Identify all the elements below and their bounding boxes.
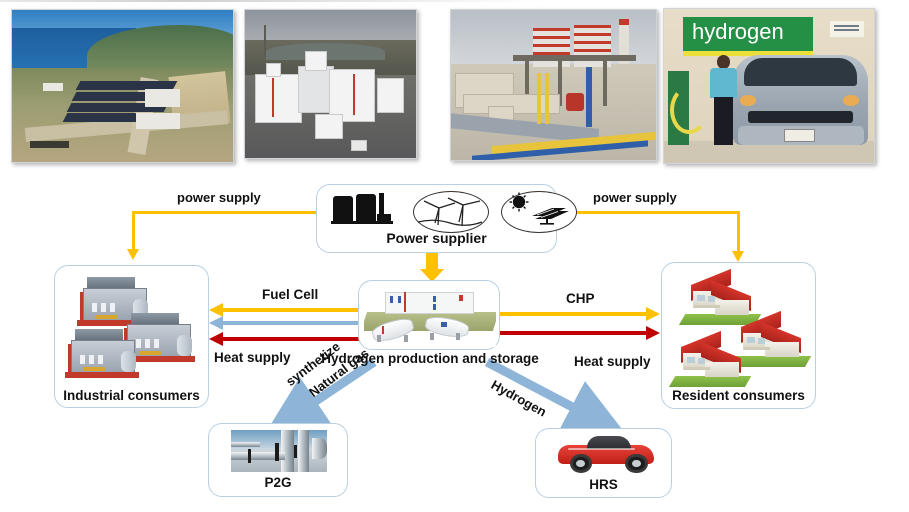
power-supply-right-line-h [556, 211, 740, 214]
heat-supply-left-arrowhead [209, 332, 223, 346]
power-supply-left-line-v [132, 211, 135, 251]
node-power-supplier-label: Power supplier [317, 230, 556, 246]
house-icon [672, 335, 748, 387]
power-plant-photo [450, 9, 657, 161]
node-resident-consumers-label: Resident consumers [662, 388, 815, 403]
thermal-plant-icon [331, 194, 395, 224]
power-supply-left-arrowhead [127, 249, 139, 260]
fuel-cell-arrowhead [209, 303, 223, 317]
node-hydrogen-production[interactable] [358, 280, 500, 350]
chp-label: CHP [566, 291, 595, 306]
hydrogen-plant-icon [364, 285, 496, 347]
solar-farm-photo [11, 9, 234, 163]
node-hrs-label: HRS [536, 477, 671, 492]
solar-panel-icon [501, 191, 577, 233]
figure-canvas: hydrogen power supply power supply [0, 0, 909, 512]
power-supply-right-arrowhead [732, 251, 744, 262]
node-hrs[interactable]: HRS [535, 428, 672, 498]
wind-turbine-icon [413, 191, 489, 233]
top-divider [0, 0, 909, 2]
node-industrial-consumers-label: Industrial consumers [55, 388, 208, 403]
power-supply-left-line-h [132, 211, 318, 214]
battery-container-photo [244, 9, 417, 159]
hydrogen-flow-label: Hydrogen [489, 377, 549, 420]
node-hydrogen-production-label: Hydrogen production and storage [310, 351, 550, 366]
heat-supply-right-line [496, 331, 648, 335]
heat-supply-right-arrowhead [646, 326, 660, 340]
node-industrial-consumers[interactable]: Industrial consumers [54, 265, 209, 408]
chp-line [496, 312, 648, 316]
power-supply-right-line-v [737, 211, 740, 253]
node-resident-consumers[interactable]: Resident consumers [661, 262, 816, 409]
heat-supply-left-label: Heat supply [214, 350, 291, 365]
gas-pipes-icon [231, 430, 327, 472]
node-p2g-label: P2G [209, 475, 347, 490]
hydrogen-sign-text: hydrogen [692, 19, 784, 45]
node-p2g[interactable]: P2G [208, 423, 348, 497]
chp-arrowhead [646, 307, 660, 321]
heat-supply-right-label: Heat supply [574, 354, 651, 369]
red-car-icon [558, 434, 654, 474]
node-power-supplier[interactable]: Power supplier [316, 184, 557, 253]
hydrogen-return-arrowhead [209, 316, 223, 330]
power-supply-right-label: power supply [593, 190, 677, 205]
power-supply-left-label: power supply [177, 190, 261, 205]
hydrogen-station-photo: hydrogen [663, 8, 875, 164]
fuel-cell-label: Fuel Cell [262, 287, 318, 302]
factory-icon [65, 328, 139, 378]
